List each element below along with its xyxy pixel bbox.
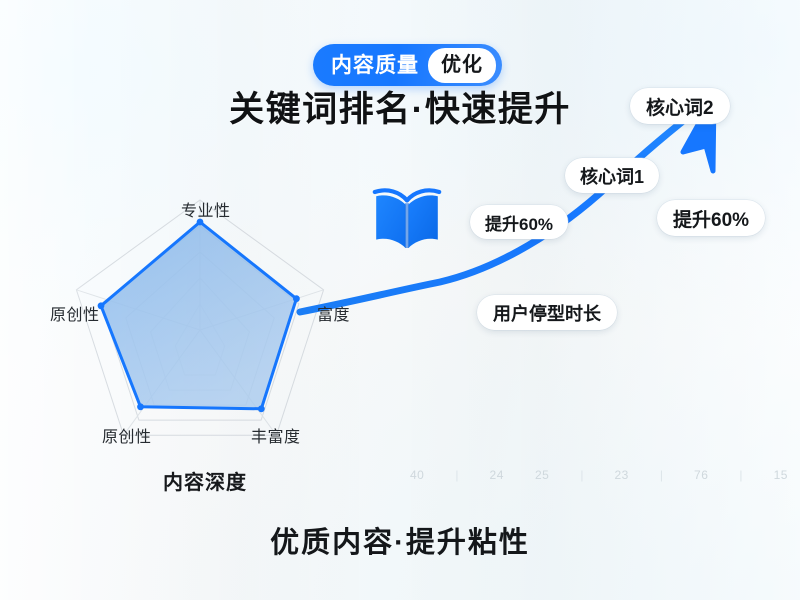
axis-tick: | [580,468,583,482]
poster-canvas: 内容质量 优化 关键词排名·快速提升 优质内容·提升粘性 专业性 富度 丰富度 … [0,0,800,600]
open-book-icon [365,178,449,262]
axis-tick: | [660,468,663,482]
radar-axis-label-right: 富度 [317,301,350,325]
axis-number: 24 [490,468,504,482]
radar-axis-label-bottom-left: 原创性 [102,423,152,447]
quality-badge[interactable]: 内容质量 优化 [313,44,502,86]
pill-boost-right[interactable]: 提升60% [657,200,765,236]
pill-user-duration[interactable]: 用户停型时长 [477,295,617,330]
content-depth-caption: 内容深度 [163,466,247,495]
axis-number: 15 [774,468,788,482]
pill-keyword-2[interactable]: 核心词2 [630,88,730,124]
pill-boost-left[interactable]: 提升60% [470,205,568,239]
axis-number: 76 [694,468,708,482]
axis-tick: | [739,468,742,482]
pill-keyword-1[interactable]: 核心词1 [565,158,659,193]
axis-number: 25 [535,468,549,482]
radar-axis-label-top: 专业性 [181,197,231,221]
axis-number: 23 [614,468,628,482]
axis-number: 40 [410,468,424,482]
quality-badge-chip: 优化 [428,48,496,83]
axis-number-strip: 40 | 24 25 | 23 | 76 | 15 [410,463,788,487]
radar-axis-label-left: 原创性 [50,301,100,325]
radar-axis-label-bottom-right: 丰富度 [251,423,301,447]
footer-title: 优质内容·提升粘性 [0,519,800,561]
axis-tick: | [455,468,458,482]
quality-badge-label: 内容质量 [331,55,428,76]
